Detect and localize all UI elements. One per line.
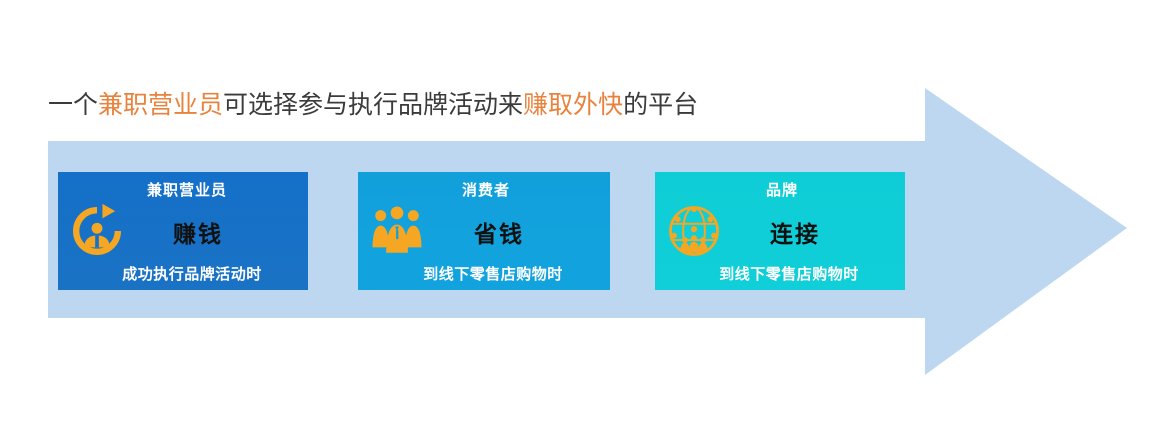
card-header-label: 品牌 (655, 179, 907, 200)
title-segment-3: 可选择参与执行品牌活动来 (223, 91, 523, 119)
title-segment-1: 一个 (48, 91, 98, 119)
slide-canvas: 一个兼职营业员可选择参与执行品牌活动来赚取外快的平台 兼职营业员 赚钱 成功执行… (0, 0, 1150, 430)
card-header-label: 消费者 (358, 179, 612, 200)
card-main-label: 省钱 (358, 215, 610, 249)
card-header-label: 兼职营业员 (58, 179, 312, 200)
card-footer-label: 到线下零售店购物时 (655, 263, 905, 284)
title-segment-4-highlight: 赚取外快 (523, 91, 623, 119)
page-title: 一个兼职营业员可选择参与执行品牌活动来赚取外快的平台 (48, 88, 698, 122)
title-segment-5: 的平台 (623, 91, 698, 119)
title-segment-2-highlight: 兼职营业员 (98, 91, 223, 119)
card-footer-label: 成功执行品牌活动时 (58, 263, 308, 284)
card-brand[interactable]: 品牌 (655, 172, 905, 290)
card-footer-label: 到线下零售店购物时 (358, 263, 610, 284)
card-main-label: 连接 (655, 215, 905, 249)
card-consumer[interactable]: 消费者 省钱 到线下零售店购物时 (358, 172, 610, 290)
card-part-time-staff[interactable]: 兼职营业员 赚钱 成功执行品牌活动时 (58, 172, 308, 290)
card-main-label: 赚钱 (58, 215, 308, 249)
